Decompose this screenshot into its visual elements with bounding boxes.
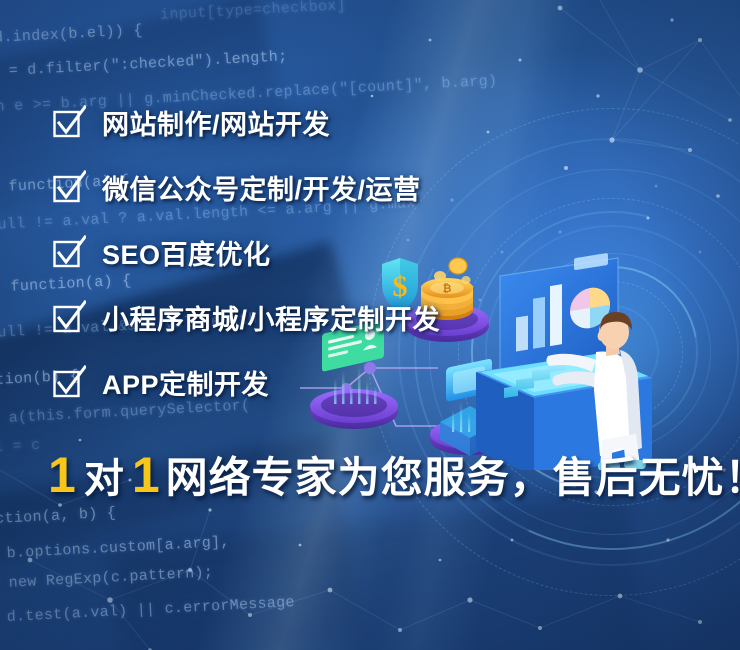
feature-label: 网站制作/网站开发 [102, 103, 330, 142]
tagline-word: 对 [84, 459, 124, 499]
banner-content: 网站制作/网站开发 微信公众号定制/开发/运营 SEO百度优化 [0, 0, 740, 650]
feature-item-seo[interactable]: SEO百度优化 [52, 230, 440, 274]
promo-banner: input[type=checkbox] d.index(b.el)) { e … [0, 0, 740, 650]
service-feature-list: 网站制作/网站开发 微信公众号定制/开发/运营 SEO百度优化 [52, 100, 440, 425]
feature-item-website[interactable]: 网站制作/网站开发 [52, 100, 440, 144]
checkbox-checked-icon [52, 300, 86, 334]
feature-label: SEO百度优化 [102, 233, 271, 272]
checkbox-checked-icon [52, 235, 86, 269]
service-tagline: 1 对 1 网络专家为您服务，售后无忧！ [48, 450, 740, 500]
feature-label: 小程序商城/小程序定制开发 [102, 298, 440, 337]
tagline-number-first: 1 [48, 450, 76, 500]
checkbox-checked-icon [52, 105, 86, 139]
feature-item-app[interactable]: APP定制开发 [52, 360, 440, 404]
feature-label: APP定制开发 [102, 363, 269, 402]
feature-item-wechat[interactable]: 微信公众号定制/开发/运营 [52, 165, 440, 209]
feature-item-miniprogram[interactable]: 小程序商城/小程序定制开发 [52, 295, 440, 339]
tagline-number-second: 1 [132, 450, 160, 500]
feature-label: 微信公众号定制/开发/运营 [102, 168, 421, 207]
checkbox-checked-icon [52, 365, 86, 399]
checkbox-checked-icon [52, 170, 86, 204]
tagline-main-text: 网络专家为您服务，售后无忧！ [166, 457, 740, 499]
